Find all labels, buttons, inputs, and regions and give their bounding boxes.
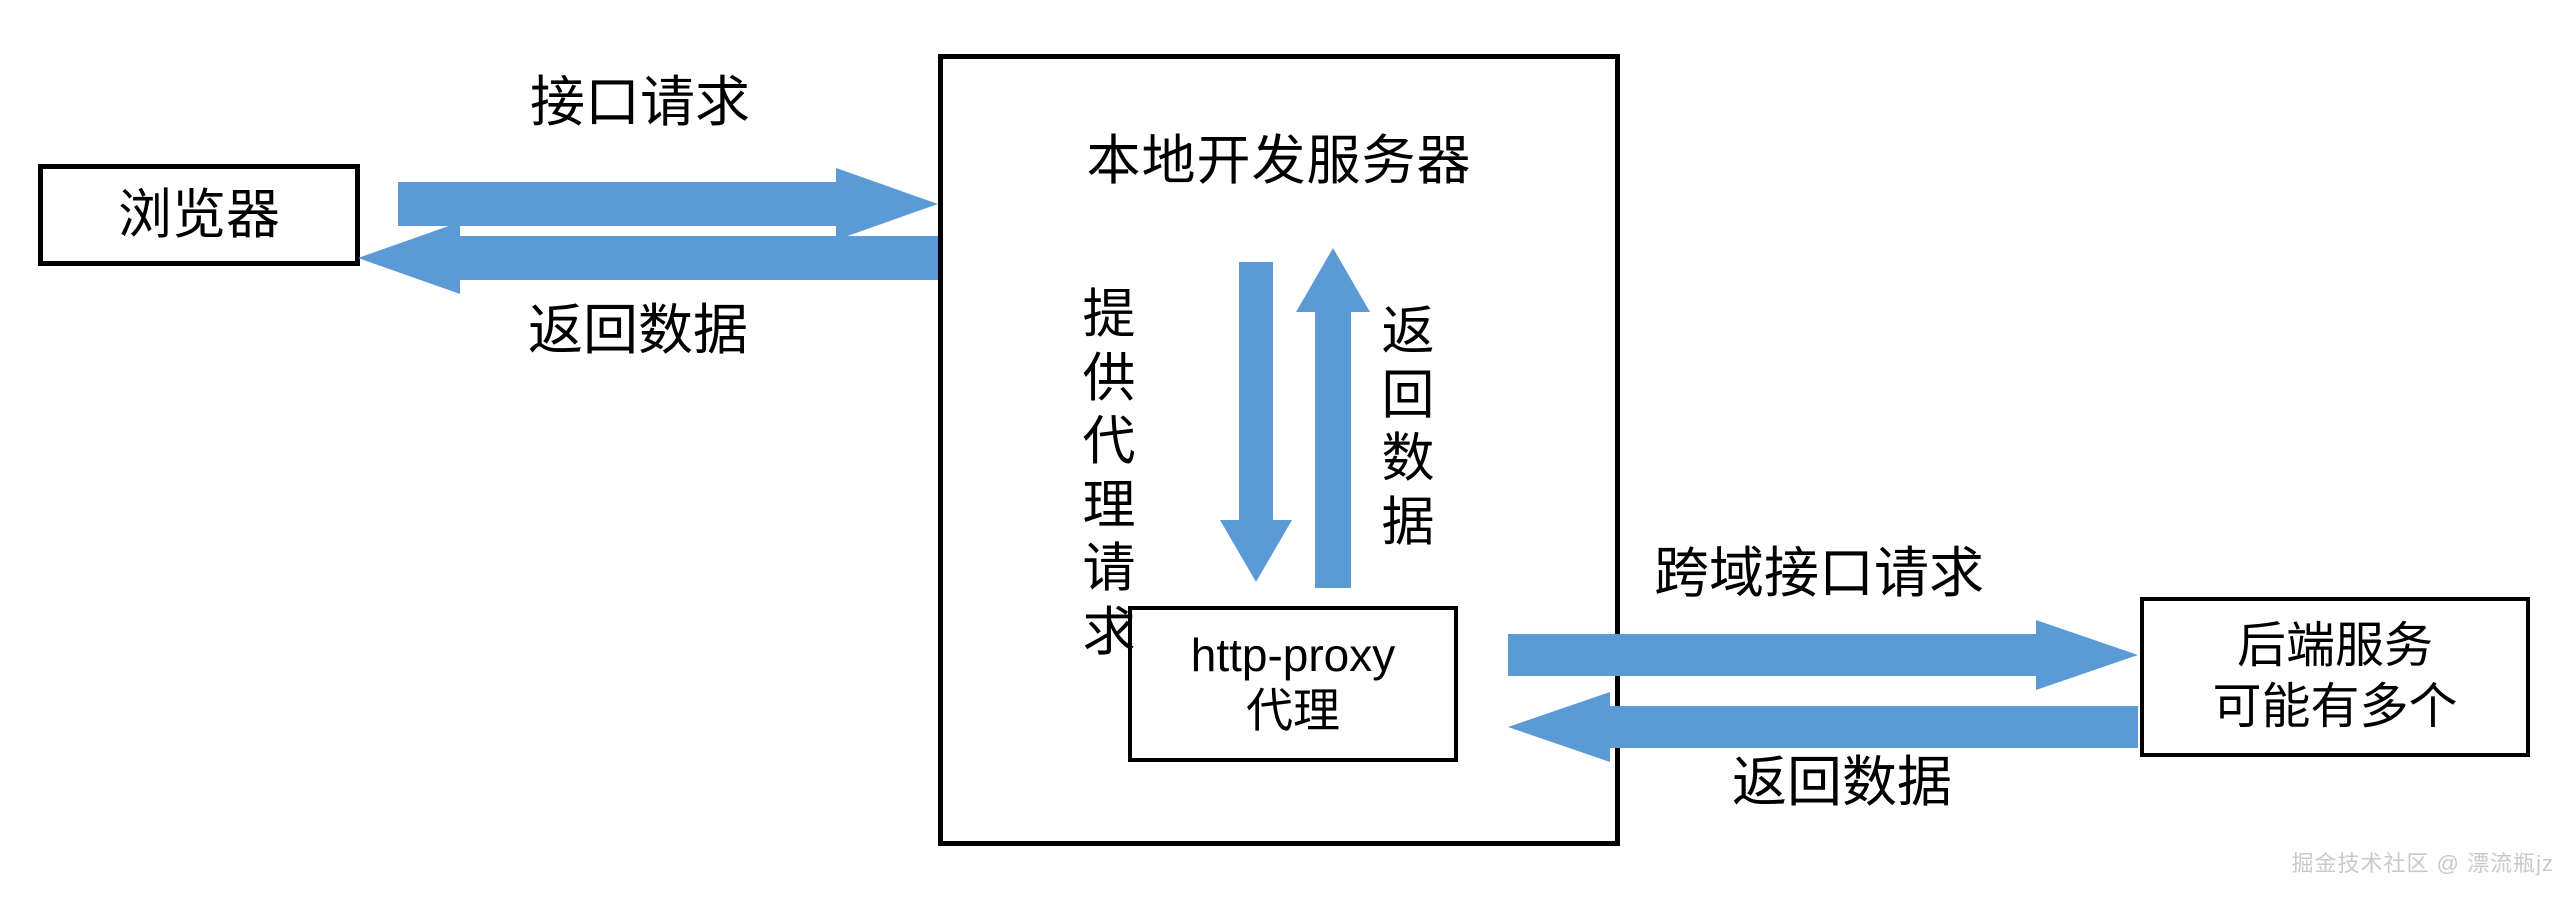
edge-label-return-data-backend: 返回数据	[1732, 752, 1952, 813]
node-browser-label: 浏览器	[118, 185, 280, 245]
diagram-canvas: 浏览器 本地开发服务器 http-proxy 代理 后端服务 可能有多个 接口请…	[0, 0, 2574, 900]
arrow-proxy-to-server	[1296, 248, 1370, 588]
node-http-proxy[interactable]: http-proxy 代理	[1128, 606, 1458, 762]
node-backend-service[interactable]: 后端服务 可能有多个	[2140, 597, 2530, 757]
node-browser[interactable]: 浏览器	[38, 164, 360, 266]
watermark: 掘金技术社区 @ 漂流瓶jz	[2292, 846, 2554, 878]
node-backend-service-label-line2: 可能有多个	[2212, 677, 2457, 738]
arrow-server-to-proxy	[1220, 262, 1292, 582]
node-dev-server-title: 本地开发服务器	[1087, 131, 1472, 191]
node-backend-service-label-line1: 后端服务	[2237, 616, 2433, 677]
edge-label-api-request: 接口请求	[530, 72, 750, 133]
edge-label-return-data-proxy-line2: 数据	[1372, 427, 1444, 554]
edge-label-return-data-proxy: 返回 数据	[1372, 300, 1444, 554]
node-http-proxy-label-line2: 代理	[1246, 685, 1340, 738]
edge-label-return-data-proxy-line1: 返回	[1372, 300, 1444, 427]
edge-label-proxy-request-line2: 代理	[1073, 410, 1145, 537]
arrow-server-to-browser	[358, 222, 938, 294]
edge-label-proxy-request-line1: 提供	[1073, 283, 1145, 410]
edge-label-return-data-browser: 返回数据	[528, 300, 748, 361]
edge-label-proxy-request: 提供 代理 请求	[1073, 283, 1145, 665]
arrow-proxy-to-backend	[1508, 620, 2138, 690]
node-http-proxy-label-line1: http-proxy	[1191, 630, 1396, 682]
edge-label-cross-origin-request: 跨域接口请求	[1654, 543, 1984, 604]
edge-label-proxy-request-line3: 请求	[1073, 537, 1145, 664]
